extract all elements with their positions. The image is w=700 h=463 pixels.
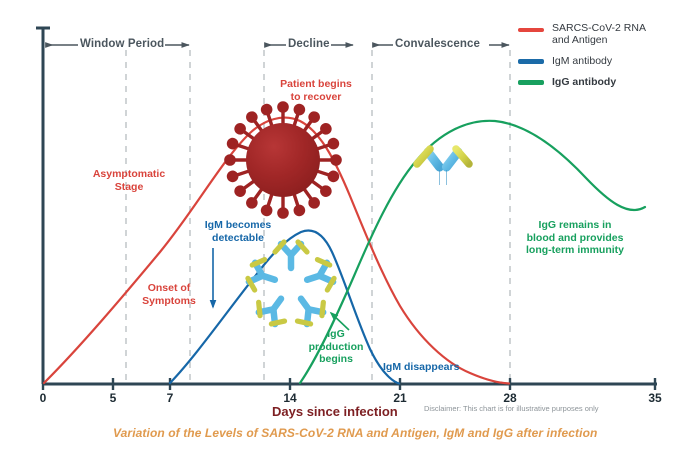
igg-prod-line2: production	[309, 341, 364, 353]
legend-swatch-green	[518, 80, 544, 85]
annotation-asymptomatic-stage: Asymptomatic Stage	[82, 168, 176, 193]
annotation-igg-remains-in-blood: IgG remains in blood and provides long-t…	[519, 219, 631, 257]
onset-line2: Symptoms	[142, 295, 196, 307]
legend-label-sars-cov2: SARCS-CoV-2 RNA and Antigen	[552, 22, 646, 46]
legend-swatch-red	[518, 28, 544, 32]
igm-detect-line2: detectable	[212, 232, 264, 244]
xtick-label-35: 35	[635, 391, 675, 405]
igg-prod-line3: begins	[319, 353, 353, 365]
igm-pentamer-icon	[245, 242, 337, 329]
annotation-igg-production-begins: IgG production begins	[302, 328, 370, 366]
xtick-label-7: 7	[150, 391, 190, 405]
legend-label-igg: IgG antibody	[552, 76, 616, 88]
recover-line2: to recover	[291, 91, 342, 103]
chart-canvas: Window Period Decline Convalescence SARC…	[0, 0, 700, 463]
legend-item-igg[interactable]: IgG antibody	[518, 76, 698, 88]
y-axis	[36, 27, 50, 384]
annotation-igm-becomes-detectable: IgM becomes detectable	[192, 219, 284, 244]
legend-label-sars-line2: and Antigen	[552, 34, 607, 46]
x-axis-title: Days since infection	[272, 404, 398, 419]
legend-swatch-blue	[518, 59, 544, 64]
phase-label-decline: Decline	[288, 38, 330, 50]
xtick-label-5: 5	[93, 391, 133, 405]
xtick-label-28: 28	[490, 391, 530, 405]
igm-detect-line1: IgM becomes	[205, 219, 272, 231]
igg-monomer-icon	[417, 149, 469, 187]
coronavirus-icon	[226, 103, 340, 217]
asymptomatic-line2: Stage	[115, 181, 144, 193]
igg-prod-line1: IgG	[327, 328, 345, 340]
annotation-igm-disappears: IgM disappears	[383, 361, 459, 374]
xtick-label-14: 14	[270, 391, 310, 405]
phase-label-window-period: Window Period	[80, 38, 164, 50]
x-axis	[43, 378, 657, 390]
igg-remains-line1: IgG remains in	[539, 219, 612, 231]
chart-caption: Variation of the Levels of SARS-CoV-2 RN…	[113, 426, 597, 440]
igg-remains-line2: blood and provides	[527, 232, 624, 244]
onset-line1: Onset of	[148, 282, 191, 294]
xtick-label-21: 21	[380, 391, 420, 405]
recover-line1: Patient begins	[280, 78, 352, 90]
legend-item-igm[interactable]: IgM antibody	[518, 55, 698, 67]
disclaimer-text: Disclaimer: This chart is for illustrati…	[424, 404, 599, 413]
legend-label-sars-line1: SARCS-CoV-2 RNA	[552, 22, 646, 34]
phase-label-convalescence: Convalescence	[395, 38, 480, 50]
legend: SARCS-CoV-2 RNA and Antigen IgM antibody…	[518, 22, 698, 88]
xtick-label-0: 0	[23, 391, 63, 405]
legend-label-igm: IgM antibody	[552, 55, 612, 67]
annotation-patient-begins-to-recover: Patient begins to recover	[268, 78, 364, 103]
asymptomatic-line1: Asymptomatic	[93, 168, 165, 180]
annotation-onset-of-symptoms: Onset of Symptoms	[127, 282, 211, 307]
igg-remains-line3: long-term immunity	[526, 244, 624, 256]
legend-item-sars-cov2[interactable]: SARCS-CoV-2 RNA and Antigen	[518, 22, 698, 46]
